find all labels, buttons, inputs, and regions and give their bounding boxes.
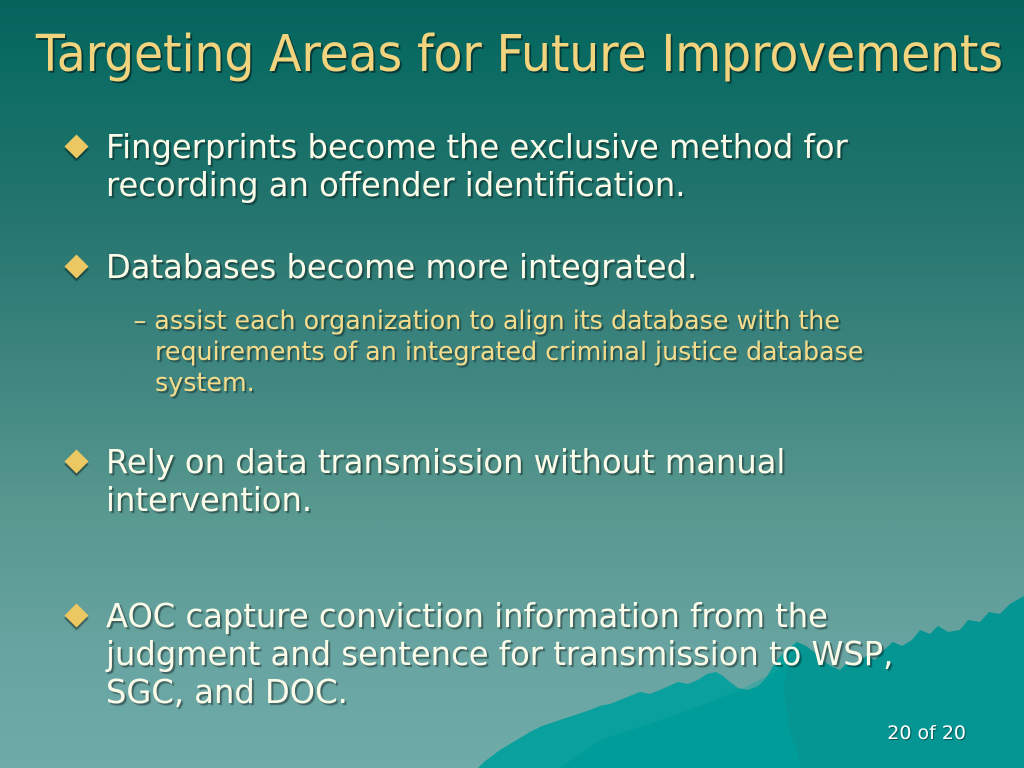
bullet-text: AOC capture conviction information from … <box>106 597 954 711</box>
bullet-item: AOC capture conviction information from … <box>58 597 976 711</box>
slide-title: Targeting Areas for Future Improvements <box>36 26 988 84</box>
spacer <box>58 425 976 443</box>
spacer <box>58 545 976 597</box>
sub-bullet-label: assist each organization to align its da… <box>154 306 863 398</box>
slide-body: Fingerprints become the exclusive method… <box>58 128 976 737</box>
page-number: 20 of 20 <box>887 722 966 744</box>
bullet-text: Rely on data transmission without manual… <box>106 443 954 519</box>
bullet-text: Databases become more integrated. <box>106 248 697 286</box>
bullet-text: Fingerprints become the exclusive method… <box>106 128 954 204</box>
dash-bullet-icon: – <box>134 306 147 336</box>
bullet-item: Rely on data transmission without manual… <box>58 443 976 519</box>
bullet-item: Databases become more integrated. <box>58 248 976 286</box>
diamond-bullet-icon <box>64 603 88 627</box>
bullet-item: Fingerprints become the exclusive method… <box>58 128 976 204</box>
spacer <box>58 230 976 248</box>
diamond-bullet-icon <box>64 449 88 473</box>
sub-bullet-text: – assist each organization to align its … <box>155 306 955 399</box>
slide-canvas: Targeting Areas for Future Improvements … <box>0 0 1024 768</box>
sub-bullet-item: – assist each organization to align its … <box>58 306 976 399</box>
diamond-bullet-icon <box>64 254 88 278</box>
diamond-bullet-icon <box>64 134 88 158</box>
